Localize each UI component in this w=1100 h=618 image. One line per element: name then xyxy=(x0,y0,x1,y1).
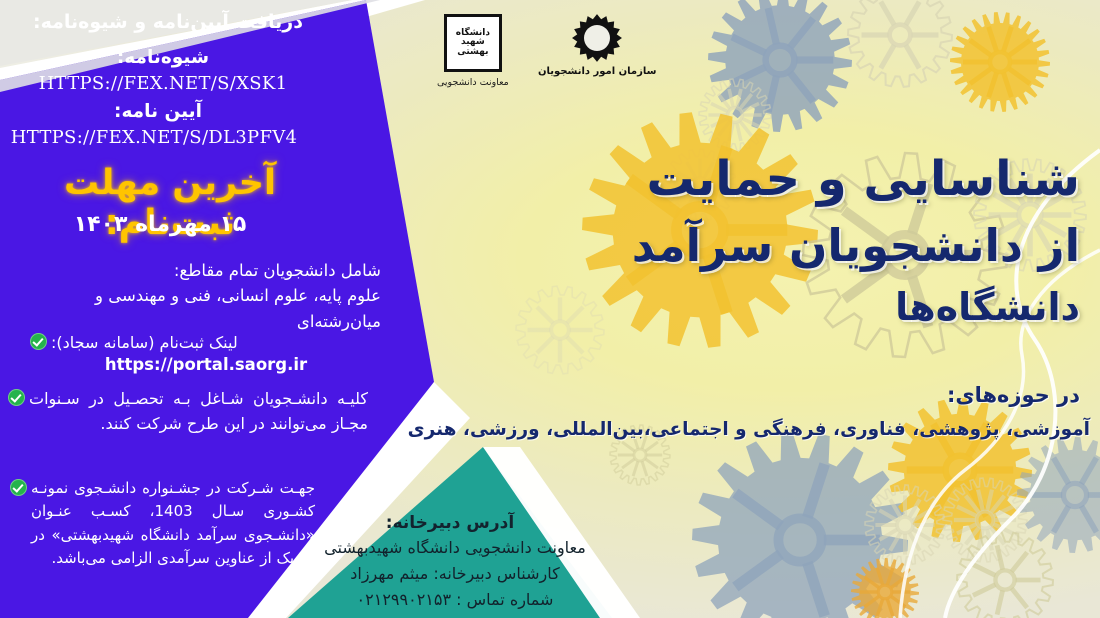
logo-sbu-caption: معاونت دانشجویی xyxy=(437,77,509,88)
logo-org-caption: سازمان امور دانشجویان xyxy=(538,66,656,78)
poster-title-line-1: شناسایی و حمایت xyxy=(600,155,1080,204)
green-check-icon xyxy=(10,479,27,496)
bullet-eligibility-text: کلیـه دانشـجویان شـاغل بـه تحصـیل در سـن… xyxy=(29,387,368,437)
green-check-icon xyxy=(8,389,25,406)
fields-list: آموزشی، پژوهشی، فناوری، فرهنگی و اجتماعی… xyxy=(460,419,1090,440)
bullet-item-festival: جهـت شـرکت در جشـنواره دانشـجوی نمونـه ک… xyxy=(10,477,315,570)
fields-label: در حوزه‌های: xyxy=(740,383,1080,407)
starburst-emblem-icon xyxy=(571,12,623,64)
university-seal-text: دانشگاه شهید بهشتی xyxy=(447,29,499,57)
scope-line-1: شامل دانشجویان تمام مقاطع: xyxy=(6,258,381,284)
bullet-festival-text: جهـت شـرکت در جشـنواره دانشـجوی نمونـه ک… xyxy=(31,477,315,570)
regulation-url[interactable]: HTTPS://FEX.NET/S/DL3PFV4 xyxy=(4,124,304,151)
bullet-item-eligibility: کلیـه دانشـجویان شـاغل بـه تحصـیل در سـن… xyxy=(8,387,368,437)
deadline-date: ۱۵ مهرماه ۱۴۰۳ xyxy=(10,212,310,237)
logo-org: سازمان امور دانشجویان xyxy=(538,12,656,78)
scope-line-2: علوم پایه، علوم انسانی، فنی و مهندسی و م… xyxy=(6,283,381,334)
green-check-icon xyxy=(30,333,47,350)
regulation-label: آیین نامه: xyxy=(8,98,308,126)
secretariat-phone: شماره تماس : ۰۲۱۲۹۹۰۲۱۵۳ xyxy=(290,587,620,613)
poster-title-line-3: دانشگاه‌ها xyxy=(600,288,1080,328)
secretariat-contact-person: کارشناس دبیرخانه: میثم مهرزاد xyxy=(290,561,620,587)
secretariat-heading: آدرس دبیرخانه: xyxy=(300,513,600,533)
university-seal-icon: دانشگاه شهید بهشتی xyxy=(444,14,502,72)
poster-canvas: دانشگاه شهید بهشتی معاونت دانشجویی سازما… xyxy=(0,0,1100,618)
download-heading: دریافت آیین‌نامه و شیوه‌نامه: xyxy=(8,8,328,37)
logo-sbu: دانشگاه شهید بهشتی معاونت دانشجویی xyxy=(437,14,509,88)
method-label: شیوه‌نامه: xyxy=(8,44,318,72)
poster-title-line-2: از دانشجویان سرآمد xyxy=(600,222,1080,269)
method-url[interactable]: HTTPS://FEX.NET/S/XSK1 xyxy=(8,70,318,97)
registration-url[interactable]: https://portal.saorg.ir xyxy=(6,353,406,378)
secretariat-address: معاونت دانشجویی دانشگاه شهیدبهشتی xyxy=(290,535,620,561)
